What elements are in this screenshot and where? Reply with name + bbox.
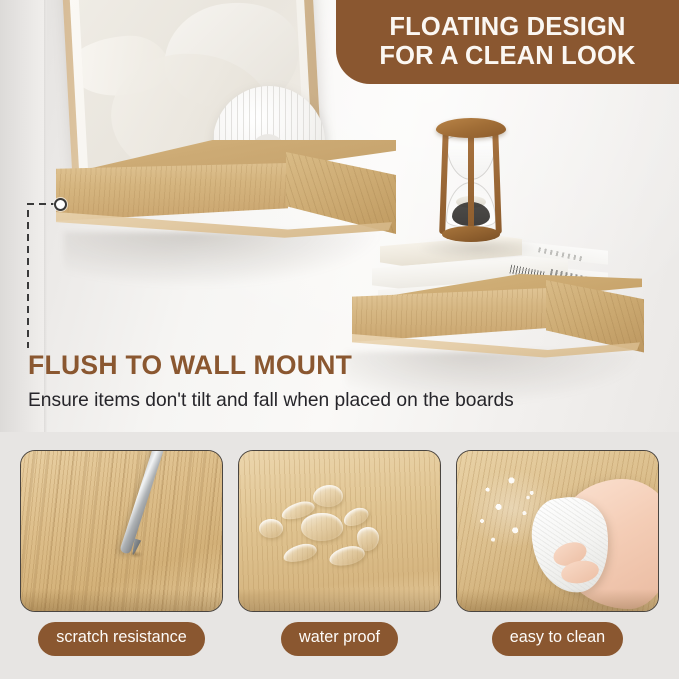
upper-shelf-front-edge xyxy=(56,163,288,221)
panel-bottom-shade xyxy=(21,589,223,611)
floating-design-banner: FLOATING DESIGN FOR A CLEAN LOOK xyxy=(336,0,679,84)
upper-floating-shelf xyxy=(56,140,396,264)
feature-panel-scratch-resistance xyxy=(20,450,223,612)
feature-panels xyxy=(20,450,659,612)
panel-bottom-shade xyxy=(239,589,441,611)
banner-line-2: FOR A CLEAN LOOK xyxy=(379,42,635,71)
hourglass-base xyxy=(442,226,500,242)
feature-pill-row: scratch resistance water proof easy to c… xyxy=(20,622,659,656)
infographic-stage: FLOATING DESIGN FOR A CLEAN LOOK FLUSH T… xyxy=(0,0,679,679)
water-droplet xyxy=(259,519,283,538)
flush-mount-heading: FLUSH TO WALL MOUNT xyxy=(28,350,648,382)
wood-texture xyxy=(21,451,222,611)
pill-slot-1: scratch resistance xyxy=(20,622,223,656)
pill-slot-3: easy to clean xyxy=(456,622,659,656)
flush-mount-subtitle: Ensure items don't tilt and fall when pl… xyxy=(28,389,648,413)
hourglass-top-cap xyxy=(436,118,506,138)
mid-text-block: FLUSH TO WALL MOUNT Ensure items don't t… xyxy=(28,350,648,413)
hourglass-post-center xyxy=(468,128,474,234)
pill-scratch-resistance: scratch resistance xyxy=(38,622,204,656)
feature-panel-water-proof xyxy=(238,450,441,612)
feature-panel-easy-to-clean xyxy=(456,450,659,612)
water-droplet xyxy=(313,485,343,507)
pill-easy-to-clean: easy to clean xyxy=(492,622,623,656)
pill-slot-2: water proof xyxy=(238,622,441,656)
hourglass xyxy=(432,110,510,250)
upper-shelf-side-edge xyxy=(286,152,396,234)
lower-shelf-front-edge xyxy=(352,288,548,342)
scratch-mark xyxy=(129,551,143,558)
water-droplet xyxy=(301,513,343,541)
lower-shelf-side-edge xyxy=(546,280,644,354)
banner-line-1: FLOATING DESIGN xyxy=(389,13,625,42)
pill-water-proof: water proof xyxy=(281,622,398,656)
panel-bottom-shade xyxy=(457,589,659,611)
